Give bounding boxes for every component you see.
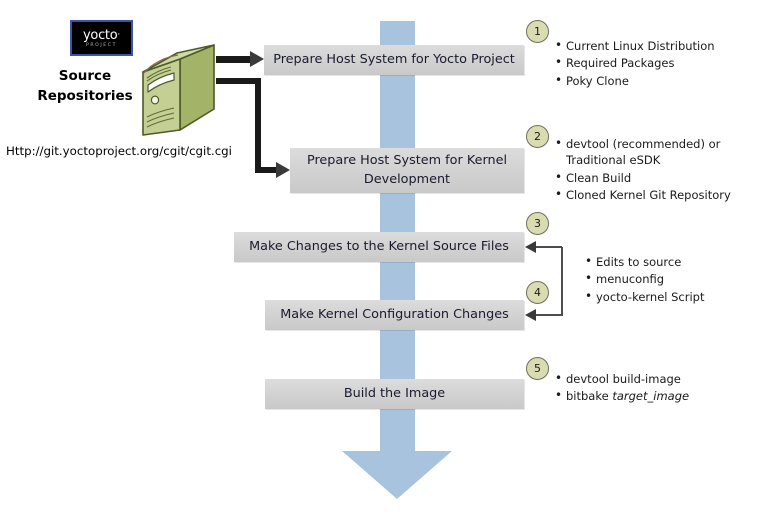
connector-server-to-step1-arrowhead (250, 51, 264, 67)
note-item: menuconfig (596, 271, 705, 287)
note-item-bitbake: bitbake target_image (566, 388, 689, 404)
main-flow-arrow-head (342, 451, 452, 499)
step-box-make-kernel-source-changes[interactable]: Make Changes to the Kernel Source Files (234, 232, 524, 262)
step-number-badge-5: 5 (526, 357, 549, 380)
diagram-canvas: yocto· PROJECT Source Repositories Http:… (0, 0, 769, 517)
feedback-loop-top-horizontal (535, 246, 562, 248)
connector-server-to-step2-vertical (255, 78, 261, 173)
step-notes-3: Edits to source menuconfig yocto-kernel … (583, 254, 705, 306)
step-box-make-kernel-config-changes[interactable]: Make Kernel Configuration Changes (265, 300, 524, 330)
connector-server-to-step2-arrowhead (276, 162, 290, 178)
yocto-logo-dot: · (117, 30, 120, 40)
step-notes-1: Current Linux Distribution Required Pack… (553, 38, 715, 90)
note-item: yocto-kernel Script (596, 289, 705, 305)
yocto-project-logo: yocto· PROJECT (70, 20, 133, 56)
note-item: Poky Clone (566, 73, 715, 89)
feedback-loop-vertical (561, 247, 563, 316)
step-notes-5: devtool build-image bitbake target_image (553, 371, 689, 406)
source-repositories-url: Http://git.yoctoproject.org/cgit/cgit.cg… (6, 144, 232, 158)
step-box-prepare-host-kernel[interactable]: Prepare Host System for Kernel Developme… (290, 148, 524, 193)
step-box-prepare-host-yocto[interactable]: Prepare Host System for Yocto Project (264, 45, 524, 75)
note-item: devtool (recommended) or Traditional eSD… (566, 136, 731, 169)
yocto-logo-subtitle: PROJECT (86, 44, 117, 49)
note-item: Edits to source (596, 254, 705, 270)
step-number-badge-1: 1 (526, 20, 549, 43)
step-notes-2: devtool (recommended) or Traditional eSD… (553, 136, 731, 204)
note-item: Required Packages (566, 55, 715, 71)
connector-server-to-step1 (216, 56, 252, 63)
note-item: devtool build-image (566, 371, 689, 387)
note-item: Current Linux Distribution (566, 38, 715, 54)
step-number-badge-3: 3 (526, 212, 549, 235)
server-tower-icon (138, 37, 218, 137)
yocto-logo-wordmark: yocto· (83, 29, 120, 42)
note-bitbake-target: target_image (612, 389, 689, 403)
note-item: Clean Build (566, 170, 731, 186)
step-number-badge-2: 2 (526, 125, 549, 148)
feedback-loop-bottom-horizontal (535, 314, 562, 316)
note-bitbake-prefix: bitbake (566, 389, 612, 403)
step-number-badge-4: 4 (526, 281, 549, 304)
step-box-build-the-image[interactable]: Build the Image (265, 379, 524, 409)
note-item: Cloned Kernel Git Repository (566, 187, 731, 203)
feedback-loop-bottom-arrowhead (525, 309, 536, 321)
yocto-logo-word-text: yocto (83, 28, 117, 43)
feedback-loop-top-arrowhead (525, 241, 536, 253)
